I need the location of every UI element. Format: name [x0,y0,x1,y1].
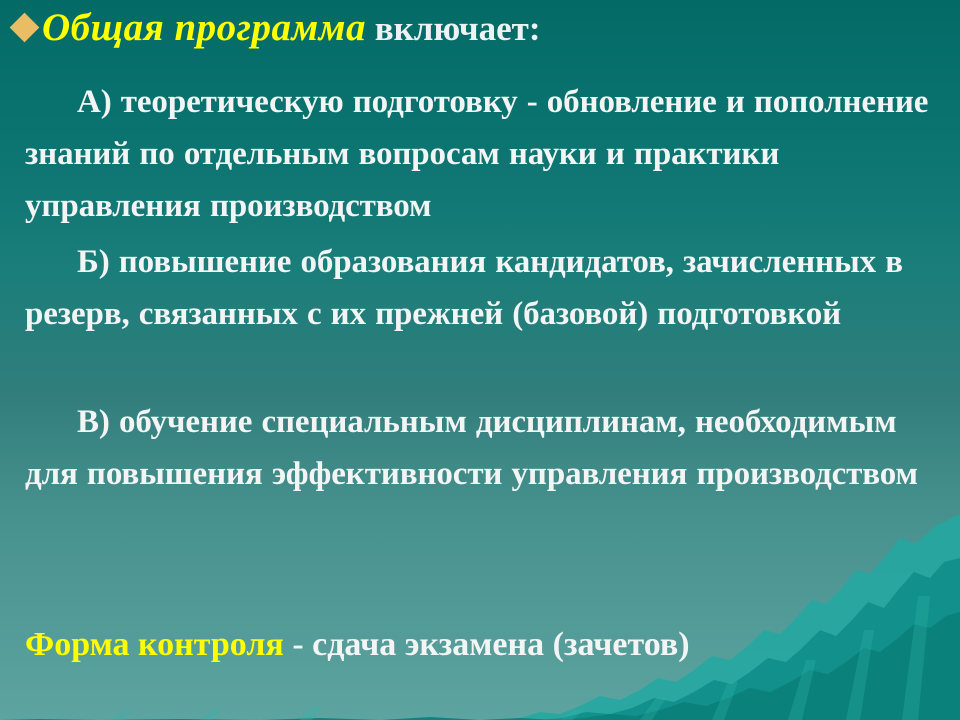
diamond-bullet-icon [10,13,40,43]
slide-content: Общая программа включает: А) теоретическ… [0,0,960,720]
paragraph-b: Б) повышение образования кандидатов, зач… [25,236,940,340]
footer-rest: - сдача экзамена (зачетов) [284,626,690,663]
paragraph-v: В) обучение специальным дисциплинам, нео… [25,396,940,500]
title-rest: включает: [366,9,541,48]
footer-note: Форма контроля - сдача экзамена (зачетов… [25,626,945,663]
presentation-slide: Общая программа включает: А) теоретическ… [0,0,960,720]
slide-title: Общая программа включает: [14,8,944,49]
paragraph-a: А) теоретическую подготовку - обновление… [25,76,940,232]
footer-emphasis: Форма контроля [25,626,284,663]
title-emphasis: Общая программа [42,6,366,49]
